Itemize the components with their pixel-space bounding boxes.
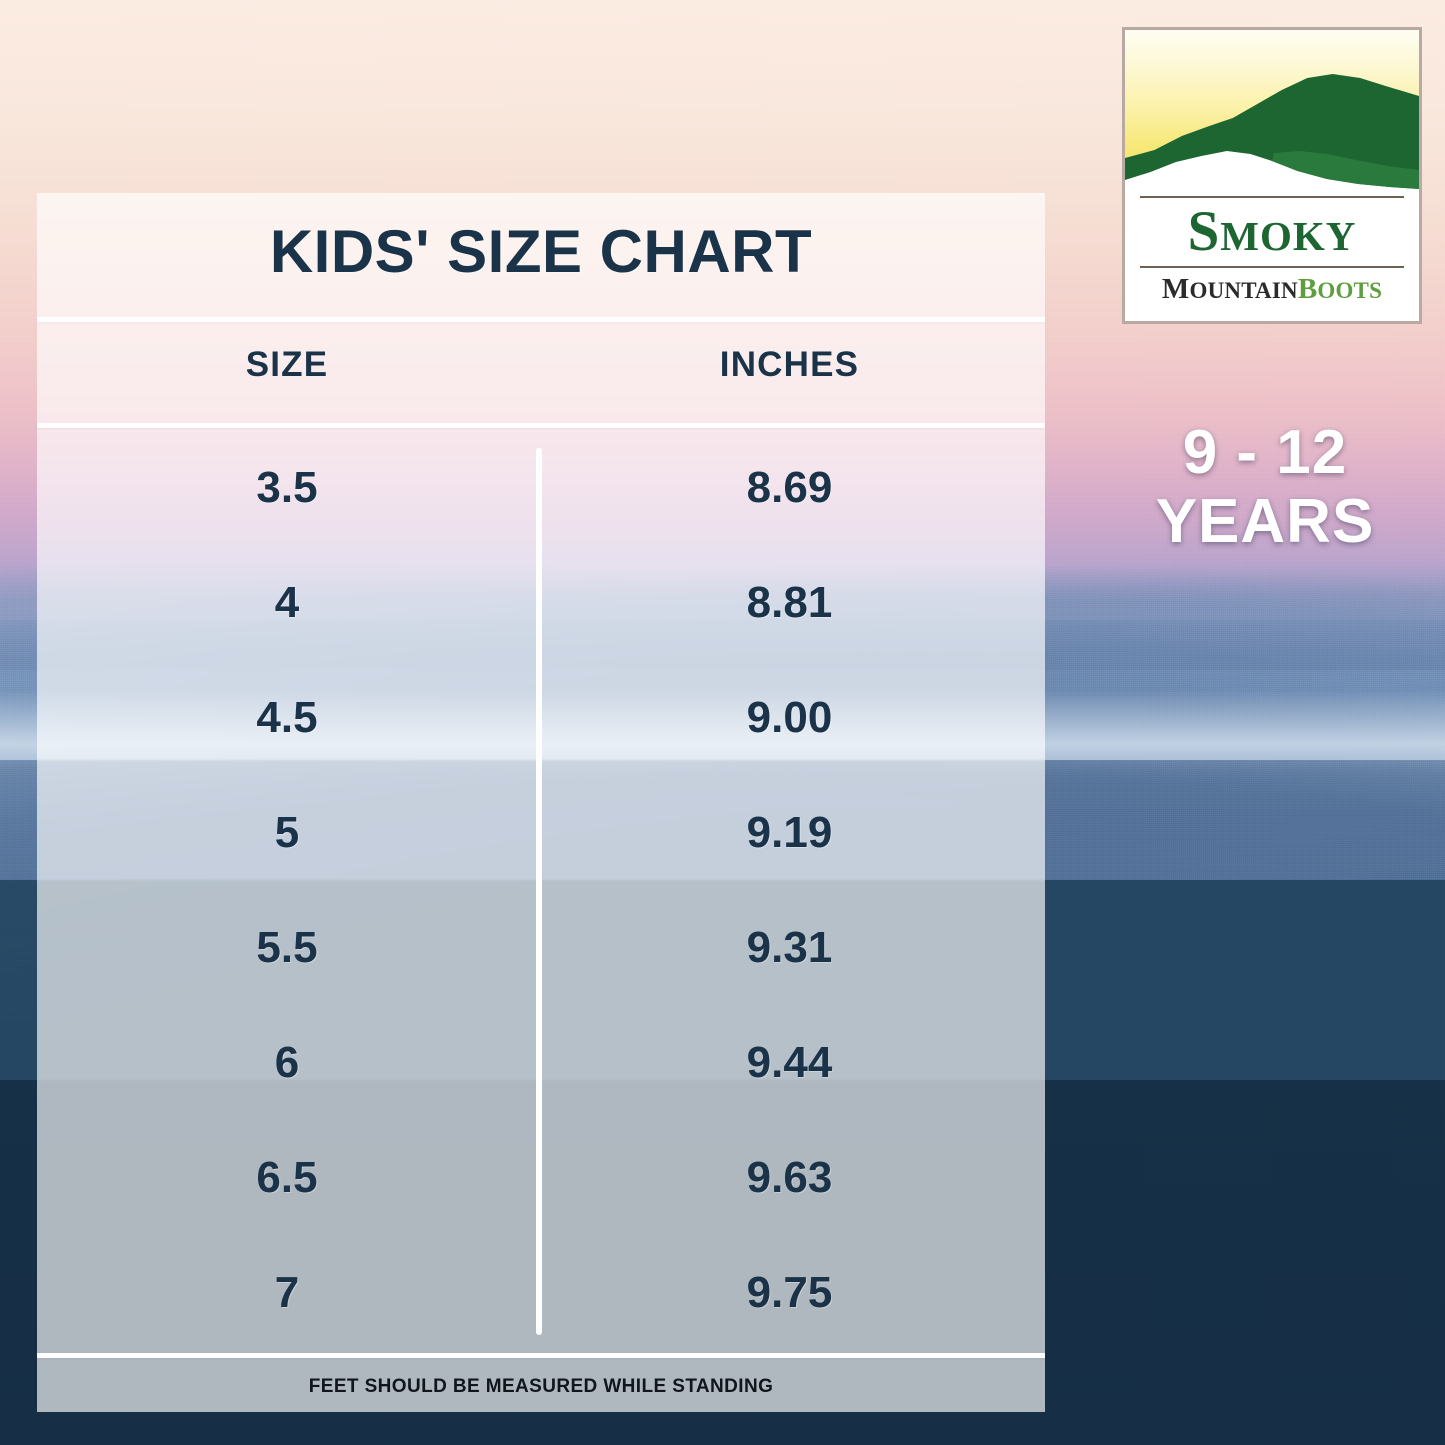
measurement-note: FEET SHOULD BE MEASURED WHILE STANDING xyxy=(37,1376,1045,1398)
cell-size: 6.5 xyxy=(37,1153,537,1203)
cell-inches: 8.69 xyxy=(537,463,1042,513)
cell-inches: 9.19 xyxy=(537,808,1042,858)
cell-inches: 9.63 xyxy=(537,1153,1042,1203)
cell-size: 7 xyxy=(37,1268,537,1318)
column-header-size: SIZE xyxy=(37,345,537,385)
cell-inches: 8.81 xyxy=(537,578,1042,628)
logo-divider-bottom xyxy=(1140,266,1405,268)
size-chart-poster: SMOKY MOUNTAINBOOTS 9 - 12 YEARS KIDS' S… xyxy=(0,0,1445,1445)
table-row: 4 8.81 xyxy=(37,545,1045,660)
mountain-sunrise-icon xyxy=(1125,30,1419,193)
column-header-inches: INCHES xyxy=(537,345,1042,385)
age-range-line1: 9 - 12 xyxy=(1100,418,1430,487)
logo-divider-top xyxy=(1140,196,1405,198)
cell-size: 3.5 xyxy=(37,463,537,513)
logo-boots-text: BOOTS xyxy=(1298,273,1382,305)
cell-size: 4 xyxy=(37,578,537,628)
cell-inches: 9.75 xyxy=(537,1268,1042,1318)
age-range-line2: YEARS xyxy=(1100,487,1430,556)
table-row: 3.5 8.69 xyxy=(37,430,1045,545)
table-row: 7 9.75 xyxy=(37,1235,1045,1350)
size-chart-card: KIDS' SIZE CHART SIZE INCHES 3.5 8.69 4 … xyxy=(37,193,1045,1412)
cell-inches: 9.31 xyxy=(537,923,1042,973)
logo-smoky-rest: MOKY xyxy=(1220,213,1356,259)
smoky-mountain-boots-logo: SMOKY MOUNTAINBOOTS xyxy=(1122,27,1422,324)
cell-inches: 9.44 xyxy=(537,1038,1042,1088)
table-row: 5.5 9.31 xyxy=(37,890,1045,1005)
table-row: 6 9.44 xyxy=(37,1005,1045,1120)
page-title: KIDS' SIZE CHART xyxy=(37,217,1045,286)
logo-wordmark-mountainboots: MOUNTAINBOOTS xyxy=(1125,273,1419,306)
cell-inches: 9.00 xyxy=(537,693,1042,743)
size-chart-rows: 3.5 8.69 4 8.81 4.5 9.00 5 9.19 5.5 9.31… xyxy=(37,430,1045,1350)
table-row: 5 9.19 xyxy=(37,775,1045,890)
divider-above-footnote xyxy=(37,1353,1045,1358)
divider-under-title xyxy=(37,317,1045,322)
cell-size: 5.5 xyxy=(37,923,537,973)
cell-size: 4.5 xyxy=(37,693,537,743)
logo-mountain-text: MOUNTAIN xyxy=(1162,273,1298,305)
cell-size: 6 xyxy=(37,1038,537,1088)
table-row: 4.5 9.00 xyxy=(37,660,1045,775)
divider-under-headers xyxy=(37,423,1045,428)
cell-size: 5 xyxy=(37,808,537,858)
logo-smoky-initial: S xyxy=(1188,200,1221,263)
age-range-badge: 9 - 12 YEARS xyxy=(1100,418,1430,557)
logo-wordmark-smoky: SMOKY xyxy=(1125,202,1419,262)
table-row: 6.5 9.63 xyxy=(37,1120,1045,1235)
